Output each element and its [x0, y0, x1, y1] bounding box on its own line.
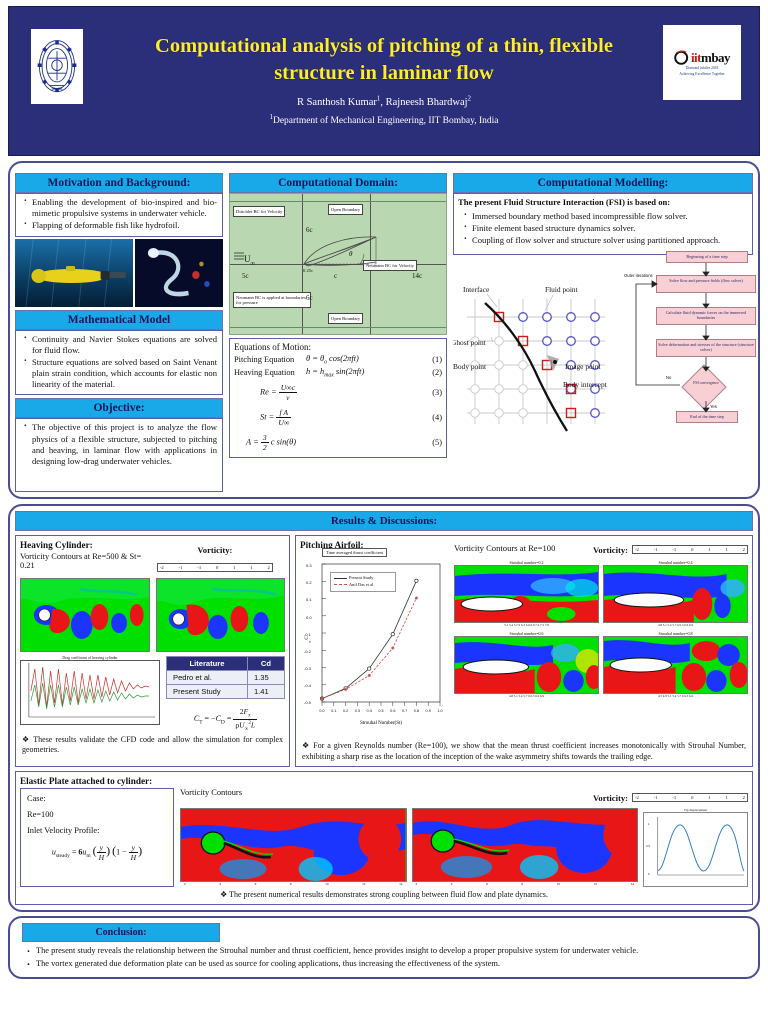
elastic-plate-panel: Elastic Plate attached to cylinder: Case…: [15, 771, 753, 905]
svg-text:0.3: 0.3: [355, 709, 360, 713]
elastic-contour-title: Vorticity Contours: [180, 788, 242, 797]
label-open-boundary-bottom: Open Boundary: [328, 313, 363, 324]
svg-text:0.1: 0.1: [331, 709, 336, 713]
elastic-right-xaxis: 2468101214: [412, 882, 639, 886]
drag-coefficient-plot: [20, 660, 160, 725]
poster-root: Computational analysis of pitching of a …: [0, 0, 768, 1024]
cell-source: Present Study: [167, 685, 248, 699]
objective-bullets: The objective of this project is to anal…: [16, 419, 222, 471]
jubilee-swirl-icon: [674, 49, 690, 65]
label-dirichlet-bc: Dirichlet BC for Velocity: [233, 206, 285, 217]
heaving-contour-pair: [20, 578, 285, 652]
list-item: The objective of this project is to anal…: [32, 422, 217, 467]
ghost-cell-diagram: Interface Fluid point Ghost point Body p…: [453, 259, 618, 434]
dim-6c-top: 6c: [306, 226, 313, 234]
equation-row-strouhal: St = f AU∞ (4): [234, 408, 442, 427]
amplitude-equation-math: A = 32 c sin(θ): [246, 433, 420, 452]
equation-number: (4): [420, 413, 442, 422]
list-item: Structure equations are solved based on …: [32, 357, 217, 391]
chart-xlabel: Strouhal Number(St): [360, 721, 402, 726]
contour-cell-st02: Strouhal number=0.2: [454, 560, 599, 627]
chart-legend: Present Study Anil Das et al: [330, 572, 396, 591]
svg-text:-0.2: -0.2: [304, 649, 312, 654]
contour-axis-st08: 4.5 4.8 5.1 5.4 5.7 6 6.3 6.6: [603, 694, 748, 698]
equation-row-amplitude: A = 32 c sin(θ) (5): [234, 433, 442, 452]
jubilee-subtext-2: Achieving Excellence Together: [679, 72, 724, 76]
equation-number: (5): [420, 438, 442, 447]
conclusion-heading: Conclusion:: [22, 923, 220, 942]
list-item: Coupling of flow solver and structure so…: [472, 235, 743, 246]
iit-bombay-diamond-jubilee-logo: iitmbay Diamond Jubilee 2018 Achieving E…: [663, 25, 741, 100]
motivation-bullets: Enabling the development of bio-inspired…: [16, 194, 222, 236]
underwater-vehicle-photo: [15, 239, 133, 307]
heaving-title: Heaving Cylinder:: [20, 540, 145, 550]
colorbar-ticks: -2-1 -10 11 2: [159, 565, 271, 570]
flow-label-outer-iterations: Outer iterations: [624, 273, 653, 278]
col-literature: Literature: [167, 657, 248, 671]
flowchart-connectors: Outer iterations No Yes: [618, 259, 768, 434]
svg-text:0.7: 0.7: [402, 709, 407, 713]
label-ghost-point: Ghost point: [453, 338, 487, 347]
vorticity-label-elastic: Vorticity:: [593, 793, 628, 803]
contour-axis-st06: 4.8 5.1 5.4 5.7 6 6.3 6.6 6.9: [454, 694, 599, 698]
contour-cell-st06: Strouhal number=0.6: [454, 631, 599, 698]
label-image-point: Image point: [565, 362, 601, 371]
drag-plot-svg: [21, 661, 159, 719]
inlet-velocity-formula: usteady = 6um (yH) (1 − yH): [27, 843, 167, 862]
svg-text:-0.5: -0.5: [304, 700, 312, 705]
list-item: Immersed boundary method based incompres…: [472, 211, 743, 222]
heaving-cylinder-panel: Heaving Cylinder: Vorticity Contours at …: [15, 535, 290, 766]
svg-text:0.0: 0.0: [306, 615, 312, 620]
list-item: Flapping of deformable fish like hydrofo…: [32, 220, 217, 231]
contour-axis-st04: 4.8 5.1 5.4 5.7 6 6.3 6.6 6.9: [603, 623, 748, 627]
contour-cell-st04: Strouhal number=0.4: [603, 560, 748, 627]
heaving-subtitle: Vorticity Contours at Re=500 & St= 0.21: [20, 552, 145, 570]
tip-displacement-plot: 10.50: [643, 812, 748, 887]
cell-cd: 1.41: [247, 685, 284, 699]
flow-label-yes: Yes: [710, 404, 717, 409]
heaving-equation-label: Heaving Equation: [234, 368, 306, 377]
elastic-contour-right: [412, 808, 639, 882]
pitching-contours-wrap: Vorticity Contours at Re=100 Vorticity: …: [454, 540, 748, 738]
equations-of-motion-box: Equations of Motion: Pitching Equation θ…: [229, 338, 447, 458]
fsi-flowchart: Beginning of a time step Solve flow and …: [618, 259, 753, 434]
dim-5c: 5c: [242, 272, 249, 280]
elastic-note: ❖ The present numerical results demonstr…: [22, 890, 746, 900]
seal-icon: [35, 36, 79, 98]
svg-text:0.5: 0.5: [378, 709, 383, 713]
pitching-equation-label: Pitching Equation: [234, 355, 306, 364]
comp-domain-heading: Computational Domain:: [229, 173, 447, 193]
page-title: Computational analysis of pitching of a …: [149, 33, 619, 85]
colorbar-elastic: -2-1 -10 11 2: [632, 793, 748, 802]
literature-comparison-table: Literature Cd Pedro et al. 1.35 Present …: [166, 656, 285, 699]
colorbar-pitching: -2-1 -10 11 2: [632, 545, 748, 554]
list-item: The vortex generated due deformation pla…: [36, 958, 754, 969]
column-left: Motivation and Background: Enabling the …: [15, 173, 223, 492]
elastic-case-box: Case: Re=100 Inlet Velocity Profile: ust…: [20, 788, 174, 887]
equation-row-heaving: Heaving Equation h = hmax sin(2πft) (2): [234, 367, 442, 379]
label-interface: Interface: [463, 285, 490, 294]
dim-6c-bottom: 6c: [306, 294, 313, 302]
comp-modelling-heading: Computational Modelling:: [453, 173, 753, 193]
pitching-airfoil-panel: Pitching Airfoil: Time averaged thrust c…: [295, 535, 753, 766]
pitching-contour-grid: Strouhal number=0.2: [454, 560, 748, 698]
list-item: The present study reveals the relationsh…: [36, 945, 754, 956]
thrust-chart-container: Time averaged thrust coefficient 0.30.20…: [300, 558, 450, 738]
heaving-contour-right-wrap: [156, 578, 286, 652]
elastic-contour-left: [180, 808, 407, 882]
affiliation-line: 1Department of Mechanical Engineering, I…: [149, 112, 619, 129]
heaving-note: ❖ These results validate the CFD code an…: [22, 735, 283, 755]
contour-axis-st02: 5.1 5.4 5.7 6 6.3 6.6 6.9 7.2 7.5 7.8: [454, 623, 599, 627]
elastic-contour-left-wrap: 2468101214: [180, 808, 407, 886]
contour-st08: [603, 636, 748, 694]
equation-number: (2): [420, 368, 442, 377]
conclusion-frame: Conclusion: The present study reveals th…: [8, 916, 760, 979]
heaving-contour-right: [156, 578, 286, 652]
vorticity-label-heaving: Vorticity:: [197, 545, 232, 555]
heaving-contour-left-wrap: [20, 578, 150, 652]
literature-table-wrap: Literature Cd Pedro et al. 1.35 Present …: [166, 656, 285, 732]
results-frame: Results & Discussions: Heaving Cylinder:…: [8, 504, 760, 912]
contour-st04: [603, 565, 748, 623]
case-label: Case:: [27, 794, 167, 803]
svg-text:1.0: 1.0: [437, 709, 442, 713]
equation-row-reynolds: Re = U∞cν (3): [234, 383, 442, 402]
objective-box: The objective of this project is to anal…: [15, 418, 223, 492]
tip-displacement-plot-wrap: Tip displacement 10.50: [643, 808, 748, 887]
svg-text:0.9: 0.9: [426, 709, 431, 713]
strouhal-equation-math: St = f AU∞: [260, 408, 420, 427]
label-body-intercept: Body intercept: [563, 380, 608, 389]
top-sections-frame: Motivation and Background: Enabling the …: [8, 161, 760, 499]
heaving-contour-left: [20, 578, 150, 652]
list-item: Enabling the development of bio-inspired…: [32, 197, 217, 219]
equation-number: (1): [420, 355, 442, 364]
airfoil-pitching-sketch: [290, 234, 400, 270]
colorbar-ticks: -2-1 -10 11 2: [634, 547, 746, 552]
table-row: Pedro et al. 1.35: [167, 671, 285, 685]
thrust-coefficient-formula: CT = −CD = 2FxρU∞2L: [166, 707, 285, 732]
results-row-1: Heaving Cylinder: Vorticity Contours at …: [15, 535, 753, 766]
list-item: Continuity and Navier Stokes equations a…: [32, 334, 217, 356]
inlet-profile-label: Inlet Velocity Profile:: [27, 826, 167, 835]
svg-text:0.2: 0.2: [343, 709, 348, 713]
comp-modelling-box: The present Fluid Structure Interaction …: [453, 193, 753, 255]
pitching-equation-math: θ = θo cos(2πft): [306, 354, 420, 366]
thrust-chart-wrap: Pitching Airfoil: Time averaged thrust c…: [300, 540, 450, 738]
vorticity-label-pitching: Vorticity:: [593, 545, 628, 555]
svg-text:0.6: 0.6: [390, 709, 395, 713]
computational-domain-figure: Dirichlet BC for Velocity Open Boundary …: [229, 193, 447, 335]
label-open-boundary-top: Open Boundary: [328, 204, 363, 215]
fish-hydrofoil-photo: [135, 239, 223, 307]
heaving-lower-row: Drag coefficient of heaving cylinder: [20, 656, 285, 732]
authors-line: R Santhosh Kumar1, Rajneesh Bhardwaj2: [149, 94, 619, 111]
svg-text:0.0: 0.0: [319, 709, 324, 713]
svg-text:0.5: 0.5: [646, 844, 650, 848]
svg-text:0.3: 0.3: [306, 563, 312, 568]
elastic-contour-right-wrap: 2468101214: [412, 808, 639, 886]
fsi-intro-text: The present Fluid Structure Interaction …: [458, 197, 748, 207]
math-model-heading: Mathematical Model: [15, 310, 223, 330]
immersed-boundary-sketch: Interface Fluid point Ghost point Body p…: [453, 259, 618, 434]
pitching-note: ❖ For a given Reynolds number (Re=100), …: [302, 741, 746, 761]
pitching-contour-title: Vorticity Contours at Re=100: [454, 540, 555, 553]
equation-number: (3): [420, 388, 442, 397]
objective-heading: Objective:: [15, 398, 223, 418]
iit-bombay-seal-logo: [31, 29, 83, 104]
fsi-bullets: Immersed boundary method based incompres…: [458, 208, 748, 251]
cell-cd: 1.35: [247, 671, 284, 685]
heaving-equation-math: h = hmax sin(2πft): [306, 367, 420, 379]
table-header-row: Literature Cd: [167, 657, 285, 671]
tip-plot-svg: 10.50: [644, 813, 747, 881]
poster-header: Computational analysis of pitching of a …: [8, 6, 760, 156]
header-text-block: Computational analysis of pitching of a …: [149, 33, 619, 128]
contour-st06: [454, 636, 599, 694]
col-cd: Cd: [247, 657, 284, 671]
reynolds-equation-math: Re = U∞cν: [260, 383, 420, 402]
colorbar-ticks: -2-1 -10 11 2: [634, 795, 746, 800]
colorbar-heaving: -2-1 -10 11 2: [157, 563, 273, 572]
elastic-content-row: Case: Re=100 Inlet Velocity Profile: ust…: [20, 788, 748, 887]
label-body-point: Body point: [453, 362, 487, 371]
flow-label-no: No: [666, 375, 672, 380]
motivation-box: Enabling the development of bio-inspired…: [15, 193, 223, 237]
dim-chord: c: [334, 272, 337, 280]
legend-item-present-study: Present Study: [334, 575, 392, 582]
drag-coefficient-plot-wrap: Drag coefficient of heaving cylinder: [20, 656, 160, 725]
inflow-arrows-icon: [234, 251, 246, 263]
motivation-images: [15, 239, 223, 307]
equations-heading: Equations of Motion:: [234, 342, 442, 352]
svg-text:0.2: 0.2: [306, 580, 312, 585]
jubilee-subtext-1: Diamond Jubilee 2018: [686, 66, 719, 70]
svg-text:-0.1: -0.1: [304, 632, 312, 637]
svg-text:-0.3: -0.3: [304, 666, 312, 671]
svg-text:0.8: 0.8: [414, 709, 419, 713]
elastic-contours-wrap: Vorticity Contours Vorticity: -2-1 -10 1…: [180, 788, 748, 887]
table-row: Present Study 1.41: [167, 685, 285, 699]
dim-14c: 14c: [412, 272, 422, 280]
elastic-title: Elastic Plate attached to cylinder:: [20, 776, 152, 786]
elastic-left-xaxis: 2468101214: [180, 882, 407, 886]
reynolds-value: Re=100: [27, 810, 167, 819]
label-fluid-point: Fluid point: [545, 285, 579, 294]
svg-text:0.4: 0.4: [367, 709, 372, 713]
label-neumann-pressure: Neumann BC is applied at boundaries for …: [233, 292, 311, 308]
svg-text:0.1: 0.1: [306, 597, 312, 602]
modelling-figures: Interface Fluid point Ghost point Body p…: [453, 259, 753, 434]
svg-text:-0.4: -0.4: [304, 683, 312, 688]
motivation-heading: Motivation and Background:: [15, 173, 223, 193]
equation-row-pitching: Pitching Equation θ = θo cos(2πft) (1): [234, 354, 442, 366]
cell-source: Pedro et al.: [167, 671, 248, 685]
column-right: Computational Modelling: The present Flu…: [453, 173, 753, 434]
top-columns: Motivation and Background: Enabling the …: [15, 173, 753, 492]
math-model-box: Continuity and Navier Stokes equations a…: [15, 330, 223, 396]
column-middle: Computational Domain: Dirichlet BC for V…: [229, 173, 447, 458]
results-heading: Results & Discussions:: [15, 511, 753, 531]
contour-cell-st08: Strouhal number=0.8: [603, 631, 748, 698]
list-item: Finite element based structure dynamics …: [472, 223, 743, 234]
math-model-bullets: Continuity and Navier Stokes equations a…: [16, 331, 222, 395]
conclusion-body: The present study reveals the relationsh…: [14, 945, 754, 970]
elastic-contour-row: 2468101214: [180, 808, 748, 887]
contour-st02: [454, 565, 599, 623]
chart-title: Time averaged thrust coefficient: [322, 548, 387, 557]
iitb-wordmark: iitmbay: [691, 51, 730, 64]
legend-item-anil-das: Anil Das et al: [334, 582, 392, 589]
